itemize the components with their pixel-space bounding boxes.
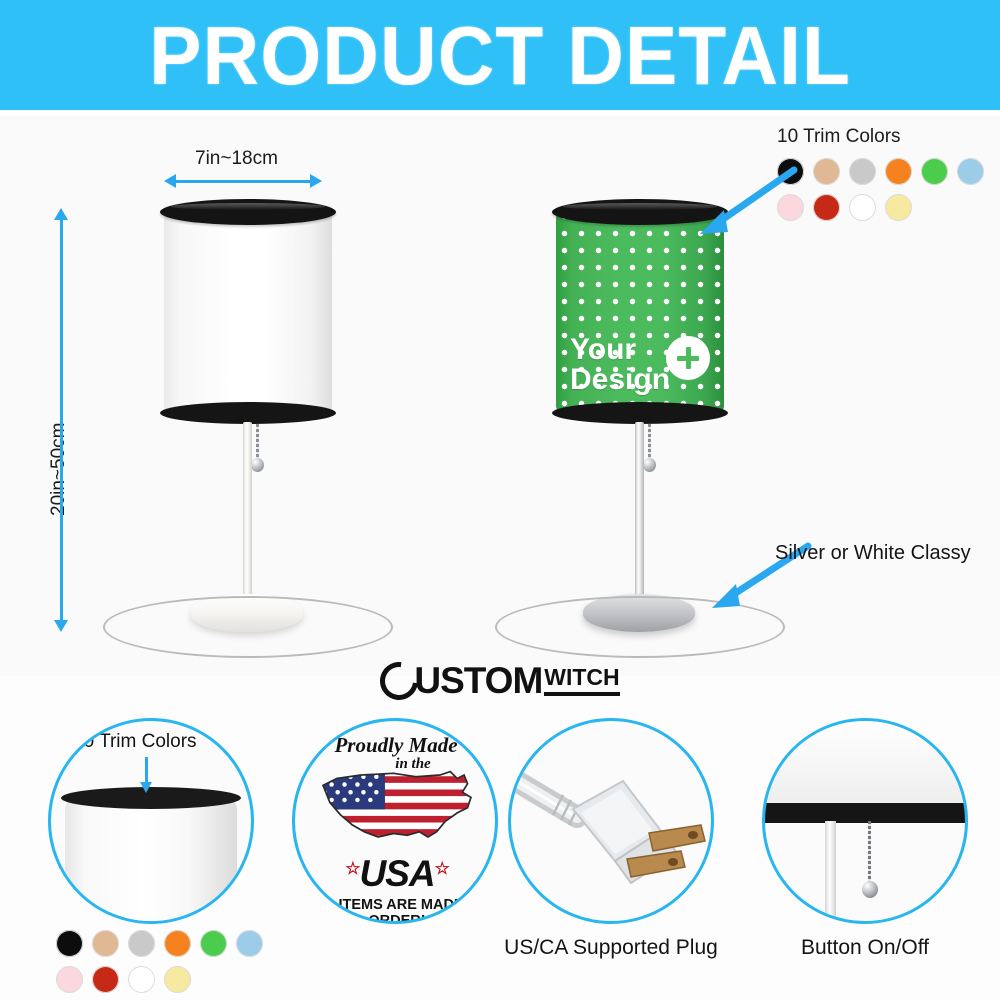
button-circle	[762, 718, 968, 924]
feature-trim-heading: 10 Trim Colors	[73, 731, 197, 753]
swatch-tan[interactable]	[92, 930, 119, 957]
swatch-gray[interactable]	[128, 930, 155, 957]
swatch-yellow[interactable]	[885, 194, 912, 221]
lamp-showcase: 7in~18cm 20in~50cm Your	[0, 116, 1000, 676]
plug-circle	[508, 718, 714, 924]
made-in-usa-circle: Proudly Made in the	[292, 718, 498, 924]
white-shade-surface	[164, 208, 332, 416]
trim-color-swatches	[777, 158, 1000, 221]
chain-cord	[256, 424, 259, 460]
button-caption: Button On/Off	[754, 936, 976, 960]
page-header: PRODUCT DETAIL	[0, 0, 1000, 110]
power-plug-icon	[511, 721, 714, 924]
feature-pull-chain[interactable]	[868, 821, 871, 883]
brand-name: USTOM	[414, 660, 542, 702]
swatch-green[interactable]	[200, 930, 227, 957]
feature-trim-arrow	[145, 757, 148, 783]
feature-chain-knob[interactable]	[862, 881, 878, 898]
height-dimension-label: 20in~50cm	[48, 423, 70, 516]
white-lamp-bottom-trim	[160, 402, 336, 424]
custom-lamp-bottom-trim	[552, 402, 728, 424]
trim-colors-group: 10 Trim Colors	[777, 126, 1000, 221]
usa-text: USA	[359, 853, 434, 894]
swatch-light-blue[interactable]	[957, 158, 984, 185]
swatch-tan[interactable]	[813, 158, 840, 185]
feature-row: 10 Trim Colors Proudly	[0, 712, 1000, 1000]
plug-caption: US/CA Supported Plug	[496, 936, 726, 960]
chain-knob[interactable]	[251, 458, 264, 472]
swatch-red[interactable]	[92, 966, 119, 993]
swatch-gray[interactable]	[849, 158, 876, 185]
bottom-trim-swatches	[56, 930, 271, 993]
feature-shade-body	[65, 799, 237, 924]
swatch-orange[interactable]	[164, 930, 191, 957]
page-title: PRODUCT DETAIL	[149, 7, 851, 102]
feature-lamp-stem	[825, 821, 836, 924]
product-detail-page: PRODUCT DETAIL 7in~18cm 20in~50cm	[0, 0, 1000, 1000]
swatch-orange[interactable]	[885, 158, 912, 185]
base-finish-label: Silver or White Classy	[775, 542, 971, 565]
custom-lamp-stem	[635, 422, 644, 612]
swatch-pink[interactable]	[56, 966, 83, 993]
swatch-green[interactable]	[921, 158, 948, 185]
swatch-red[interactable]	[813, 194, 840, 221]
bottom-swatch-list	[56, 930, 271, 993]
chain-cord	[648, 424, 651, 460]
custom-lamp-pull-chain[interactable]	[648, 424, 651, 460]
white-lamp-shade	[164, 208, 332, 416]
brand-suffix: WITCH	[544, 664, 619, 696]
brand-logo: USTOM WITCH	[0, 660, 1000, 702]
white-lamp-pull-chain[interactable]	[256, 424, 259, 460]
feature-bottom-trim	[762, 803, 968, 823]
swatch-white[interactable]	[849, 194, 876, 221]
usa-word: ☆USA☆	[295, 853, 498, 895]
trim-colors-circle: 10 Trim Colors	[48, 718, 254, 924]
star-right-icon: ☆	[435, 859, 449, 878]
usa-proudly-made: Proudly Made	[334, 733, 457, 757]
custom-lamp-shade[interactable]: Your Design	[556, 208, 724, 416]
swatch-light-blue[interactable]	[236, 930, 263, 957]
height-dimension-arrow	[60, 220, 63, 620]
plus-icon[interactable]	[666, 336, 710, 380]
trim-callout-arrow	[690, 162, 800, 238]
white-lamp-power-cord	[103, 596, 393, 658]
swatch-white[interactable]	[128, 966, 155, 993]
swatch-yellow[interactable]	[164, 966, 191, 993]
usa-map-flag-icon	[311, 763, 483, 849]
swatch-black[interactable]	[56, 930, 83, 957]
width-dimension-arrow	[176, 180, 310, 183]
white-lamp-top-trim	[160, 199, 336, 225]
made-to-order-text: ALL ITEMS ARE MADE TO ORDER!	[295, 897, 498, 924]
chain-knob[interactable]	[643, 458, 656, 472]
feature-shade-lower-body	[765, 721, 965, 805]
width-dimension-label: 7in~18cm	[195, 148, 278, 170]
trim-colors-heading: 10 Trim Colors	[777, 126, 1000, 148]
white-lamp-stem	[243, 422, 252, 612]
star-left-icon: ☆	[345, 859, 359, 878]
